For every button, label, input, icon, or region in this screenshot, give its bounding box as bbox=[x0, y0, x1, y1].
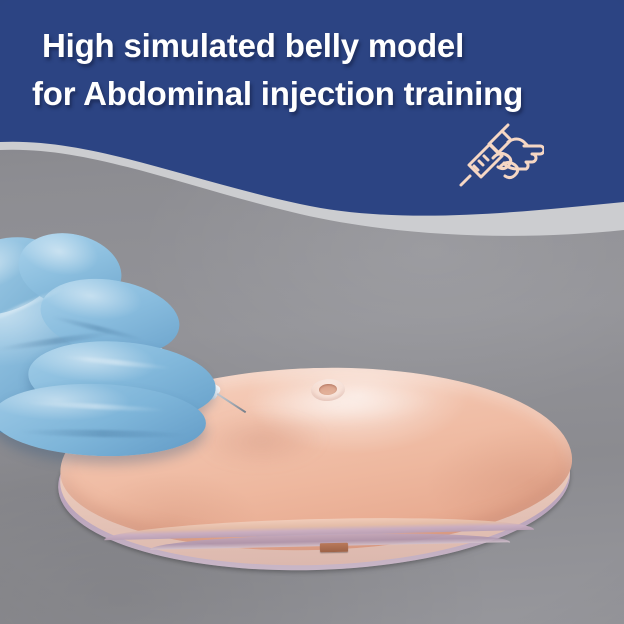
product-banner-image: High simulated belly model for Abdominal… bbox=[0, 0, 624, 624]
photo-vignette bbox=[0, 0, 624, 624]
